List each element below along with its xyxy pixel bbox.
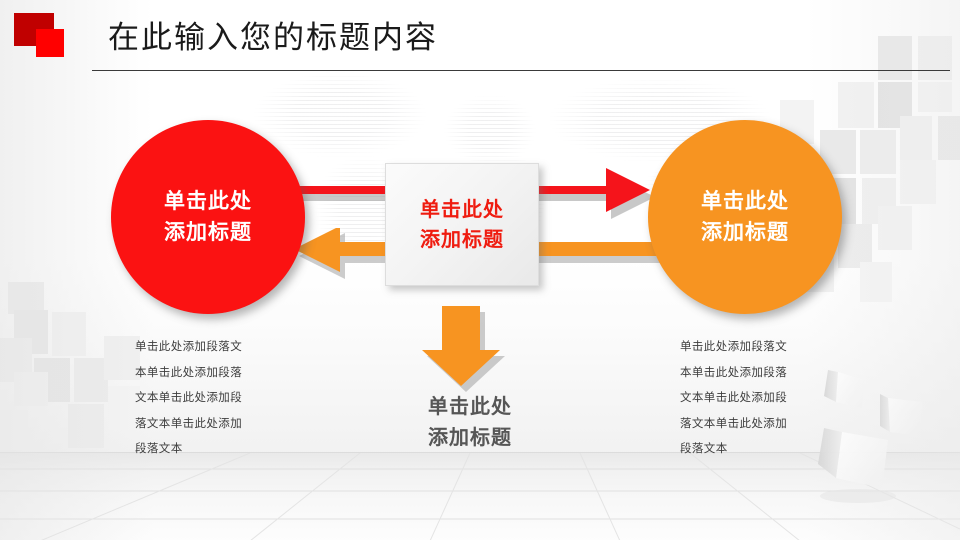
slide-canvas: 在此输入您的标题内容 单击此处 添加标题 单击此处 添加标题 单击此处 添加标题	[0, 0, 960, 540]
page-title: 在此输入您的标题内容	[108, 16, 438, 60]
center-box-line2: 添加标题	[420, 225, 504, 255]
left-paragraph-line: 落文本单击此处添加	[135, 412, 285, 438]
right-circle-line1: 单击此处	[701, 186, 789, 217]
left-paragraph-line: 文本单击此处添加段	[135, 386, 285, 412]
left-paragraph-line: 段落文本	[135, 437, 285, 463]
left-circle-line2: 添加标题	[164, 217, 252, 248]
right-paragraph-line: 单击此处添加段落文	[680, 335, 830, 361]
right-paragraph-line: 文本单击此处添加段	[680, 386, 830, 412]
right-node-circle[interactable]: 单击此处 添加标题	[648, 120, 842, 314]
right-paragraph-line: 段落文本	[680, 437, 830, 463]
left-circle-line1: 单击此处	[164, 186, 252, 217]
bottom-label-line1: 单击此处	[370, 392, 570, 423]
title-divider	[92, 70, 950, 71]
center-box-line1: 单击此处	[420, 195, 504, 225]
left-paragraph-line: 本单击此处添加段落	[135, 361, 285, 387]
left-node-circle[interactable]: 单击此处 添加标题	[111, 120, 305, 314]
left-paragraph-line: 单击此处添加段落文	[135, 335, 285, 361]
left-paragraph[interactable]: 单击此处添加段落文 本单击此处添加段落 文本单击此处添加段 落文本单击此处添加 …	[135, 335, 285, 463]
right-paragraph-line: 落文本单击此处添加	[680, 412, 830, 438]
right-circle-line2: 添加标题	[701, 217, 789, 248]
bottom-node-label[interactable]: 单击此处 添加标题	[370, 392, 570, 454]
center-node-box[interactable]: 单击此处 添加标题	[385, 163, 539, 286]
right-paragraph-line: 本单击此处添加段落	[680, 361, 830, 387]
bottom-label-line2: 添加标题	[370, 423, 570, 454]
right-paragraph[interactable]: 单击此处添加段落文 本单击此处添加段落 文本单击此处添加段 落文本单击此处添加 …	[680, 335, 830, 463]
orange-down-arrow	[416, 304, 526, 396]
logo-square-front	[36, 29, 64, 57]
